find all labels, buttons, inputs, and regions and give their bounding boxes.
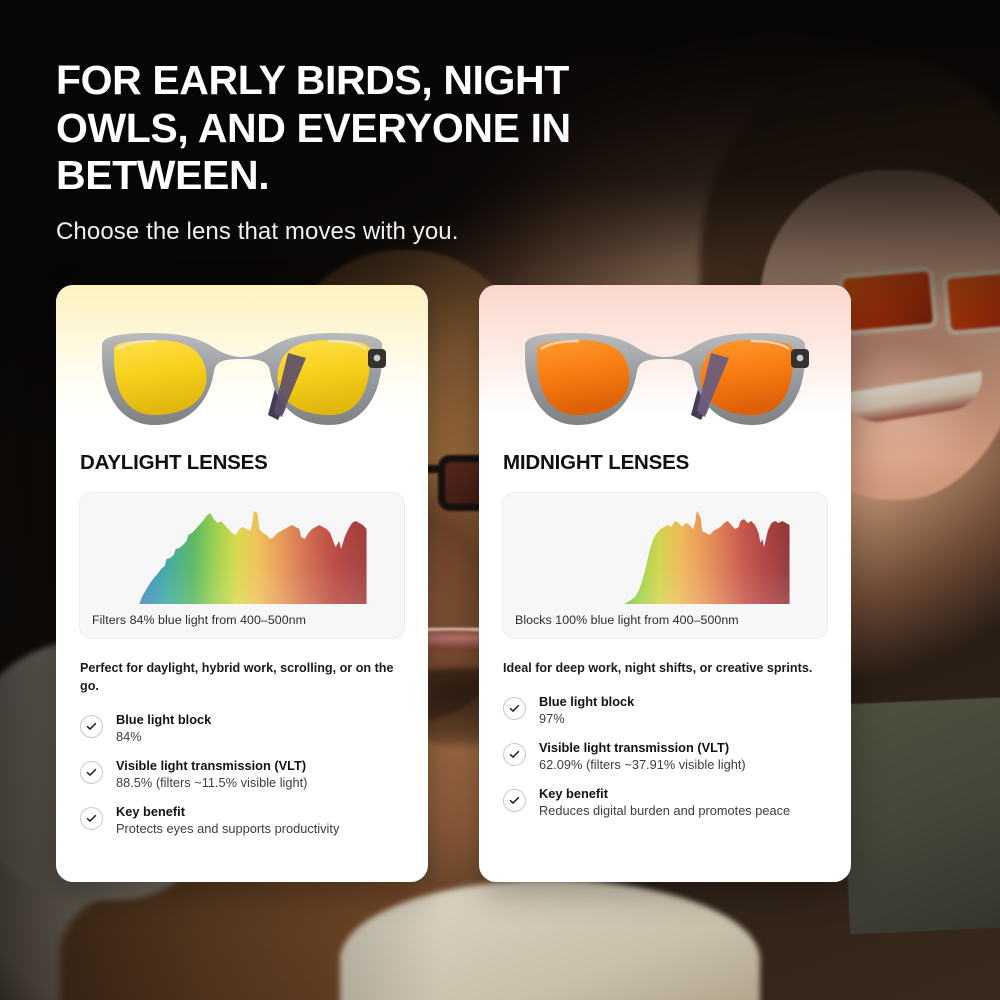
check-circle-icon — [80, 715, 103, 738]
feature-label: Visible light transmission (VLT) — [539, 740, 746, 755]
feature-value: 62.09% (filters ~37.91% visible light) — [539, 757, 746, 772]
lens-comparison-cards: DAYLIGHT LENSES — [56, 285, 851, 882]
feature-label: Blue light block — [116, 712, 211, 727]
spectrum-panel-daylight: Filters 84% blue light from 400–500nm — [79, 492, 405, 639]
product-image-midnight — [479, 285, 851, 440]
lens-card-daylight[interactable]: DAYLIGHT LENSES — [56, 285, 428, 882]
feature-list-daylight: Blue light block 84% Visible light trans… — [80, 712, 404, 836]
feature-value: 97% — [539, 711, 634, 726]
feature-value: Protects eyes and supports productivity — [116, 821, 339, 836]
card-blurb-midnight: Ideal for deep work, night shifts, or cr… — [503, 660, 827, 678]
feature-item: Visible light transmission (VLT) 88.5% (… — [80, 758, 404, 790]
lens-card-midnight[interactable]: MIDNIGHT LENSES — [479, 285, 851, 882]
page-title: FOR EARLY BIRDS, NIGHT OWLS, AND EVERYON… — [56, 57, 696, 200]
feature-label: Key benefit — [539, 786, 790, 801]
feature-item: Key benefit Reduces digital burden and p… — [503, 786, 827, 818]
feature-item: Blue light block 97% — [503, 694, 827, 726]
spectrum-chart-daylight — [92, 503, 392, 604]
page-subtitle: Choose the lens that moves with you. — [56, 218, 696, 246]
eyeglasses-orange-lens-icon — [515, 319, 815, 440]
eyeglasses-yellow-lens-icon — [92, 319, 392, 440]
feature-item: Blue light block 84% — [80, 712, 404, 744]
check-circle-icon — [503, 789, 526, 812]
card-title-daylight: DAYLIGHT LENSES — [80, 451, 404, 475]
spectrum-panel-midnight: Blocks 100% blue light from 400–500nm — [502, 492, 828, 639]
spectrum-chart-midnight — [515, 503, 815, 604]
check-circle-icon — [503, 743, 526, 766]
feature-label: Key benefit — [116, 804, 339, 819]
spectrum-caption-midnight: Blocks 100% blue light from 400–500nm — [515, 613, 815, 627]
product-image-daylight — [56, 285, 428, 440]
hero-text-block: FOR EARLY BIRDS, NIGHT OWLS, AND EVERYON… — [56, 57, 696, 246]
spectrum-caption-daylight: Filters 84% blue light from 400–500nm — [92, 613, 392, 627]
promo-page: FOR EARLY BIRDS, NIGHT OWLS, AND EVERYON… — [0, 0, 1000, 1000]
check-circle-icon — [503, 697, 526, 720]
card-blurb-daylight: Perfect for daylight, hybrid work, scrol… — [80, 660, 404, 696]
feature-value: Reduces digital burden and promotes peac… — [539, 803, 790, 818]
feature-value: 84% — [116, 729, 211, 744]
feature-value: 88.5% (filters ~11.5% visible light) — [116, 775, 307, 790]
feature-list-midnight: Blue light block 97% Visible light trans… — [503, 694, 827, 818]
feature-label: Blue light block — [539, 694, 634, 709]
check-circle-icon — [80, 761, 103, 784]
feature-label: Visible light transmission (VLT) — [116, 758, 307, 773]
feature-item: Key benefit Protects eyes and supports p… — [80, 804, 404, 836]
card-title-midnight: MIDNIGHT LENSES — [503, 451, 827, 475]
feature-item: Visible light transmission (VLT) 62.09% … — [503, 740, 827, 772]
check-circle-icon — [80, 807, 103, 830]
